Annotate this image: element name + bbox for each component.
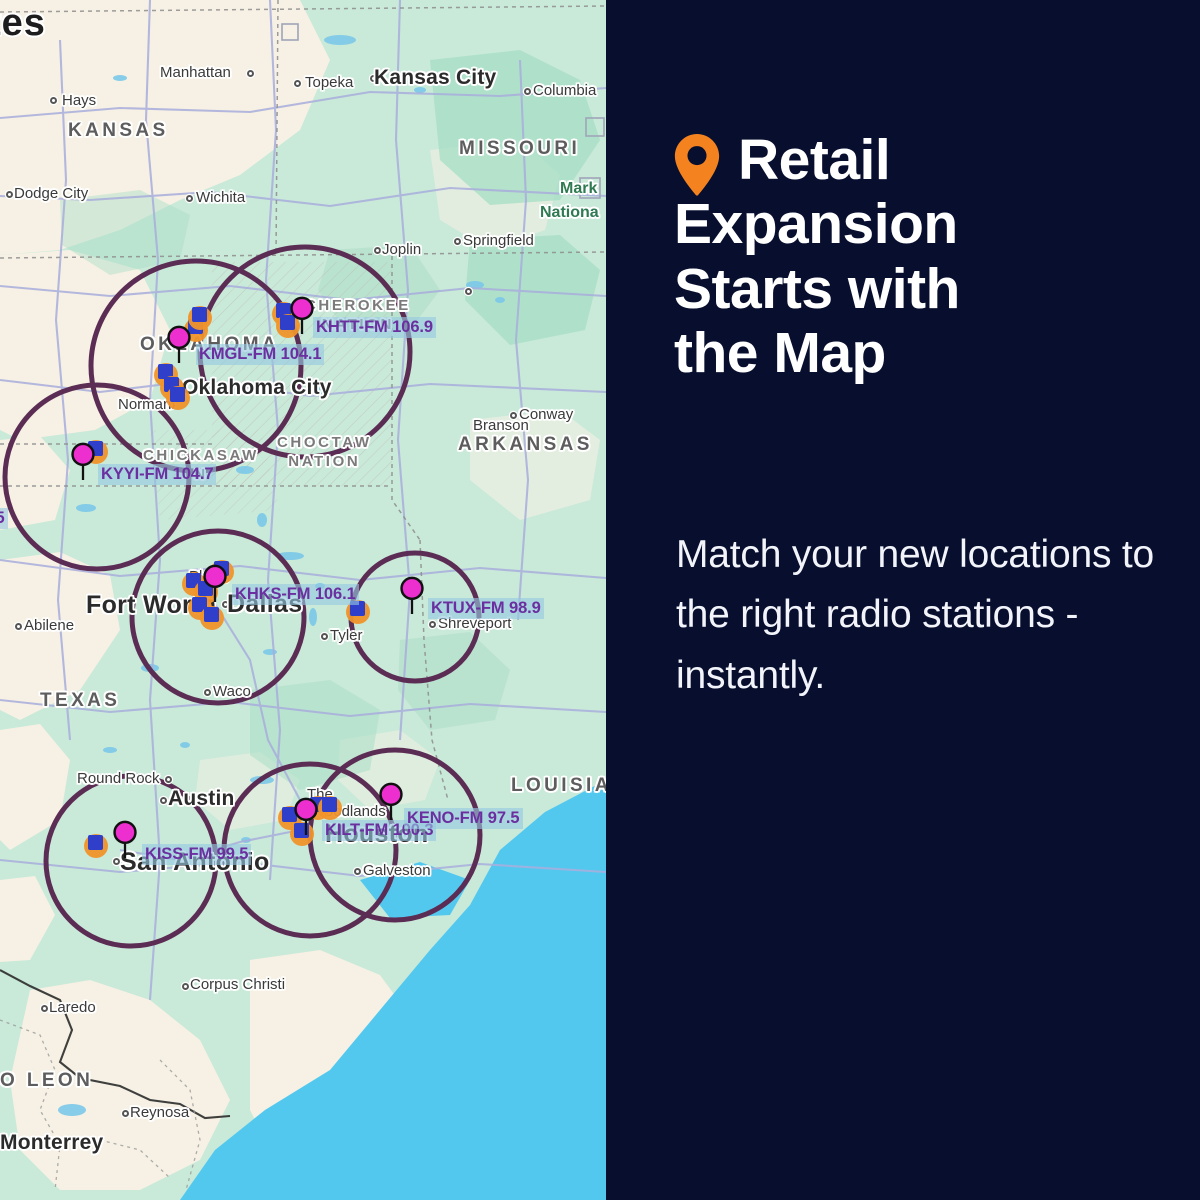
subheading-text: Match your new locations to the right ra… xyxy=(676,525,1166,706)
coverage-circle xyxy=(91,261,301,471)
headline-line-3: Starts with xyxy=(674,257,1104,321)
city-dot-icon xyxy=(113,858,120,865)
city-dot-icon xyxy=(15,623,22,630)
city-dot-icon xyxy=(182,983,189,990)
city-dot-icon xyxy=(41,1005,48,1012)
radio-station-pin-icon[interactable] xyxy=(293,797,319,835)
city-dot-icon xyxy=(429,621,436,628)
store-cluster-marker[interactable] xyxy=(200,606,224,630)
city-dot-icon xyxy=(465,288,472,295)
station-label-clipped: .5 xyxy=(0,508,8,529)
city-dot-icon xyxy=(374,247,381,254)
poster-canvas: KANSASMISSOURIOKLAHOMAARKANSASTEXASLOUIS… xyxy=(0,0,1200,1200)
headline-line-4: the Map xyxy=(674,321,1104,385)
city-dot-icon xyxy=(247,70,254,77)
city-dot-icon xyxy=(165,776,172,783)
city-dot-icon xyxy=(294,80,301,87)
radio-station-pin-icon[interactable] xyxy=(289,296,315,334)
city-dot-icon xyxy=(6,191,13,198)
radio-station-pin-icon[interactable] xyxy=(112,820,138,858)
radio-station-label: KENO-FM 97.5 xyxy=(404,808,523,829)
radio-station-label: KTUX-FM 98.9 xyxy=(428,598,544,619)
radio-station-label: KISS-FM 99.5 xyxy=(142,844,251,865)
radio-station-pin-icon[interactable] xyxy=(70,442,96,480)
cluster-square-icon xyxy=(192,307,207,322)
store-cluster-marker[interactable] xyxy=(84,834,108,858)
radio-station-pin-icon[interactable] xyxy=(202,564,228,602)
location-pin-icon xyxy=(674,134,720,196)
city-dot-icon xyxy=(454,238,461,245)
page-title: Retail Expansion Starts with the Map xyxy=(674,128,1104,386)
cluster-square-icon xyxy=(88,835,103,850)
city-dot-icon xyxy=(50,97,57,104)
city-dot-icon xyxy=(160,797,167,804)
cluster-square-icon xyxy=(322,797,337,812)
city-dot-icon xyxy=(321,633,328,640)
radio-station-pin-icon[interactable] xyxy=(378,782,404,820)
city-dot-icon xyxy=(204,689,211,696)
store-cluster-marker[interactable] xyxy=(166,386,190,410)
headline-line-2: Expansion xyxy=(674,192,1104,256)
headline-line-1: Retail xyxy=(738,128,1104,192)
store-cluster-marker[interactable] xyxy=(318,796,342,820)
city-dot-icon xyxy=(186,195,193,202)
radio-station-label: KYYI-FM 104.7 xyxy=(98,464,216,485)
radio-station-label: KHKS-FM 106.1 xyxy=(232,584,359,605)
city-dot-icon xyxy=(122,1110,129,1117)
radio-station-pin-icon[interactable] xyxy=(166,325,192,363)
headline-block: Retail Expansion Starts with the Map xyxy=(674,128,1104,386)
radio-station-label: KMGL-FM 104.1 xyxy=(196,344,324,365)
content-panel: Retail Expansion Starts with the Map Mat… xyxy=(606,0,1200,1200)
city-dot-icon xyxy=(510,412,517,419)
radio-station-pin-icon[interactable] xyxy=(399,576,425,614)
radio-station-label: KHTT-FM 106.9 xyxy=(313,317,436,338)
city-dot-icon xyxy=(524,88,531,95)
city-dot-icon xyxy=(181,601,188,608)
city-dot-icon xyxy=(354,868,361,875)
map-panel[interactable]: KANSASMISSOURIOKLAHOMAARKANSASTEXASLOUIS… xyxy=(0,0,606,1200)
city-dot-icon xyxy=(370,75,377,82)
cluster-square-icon xyxy=(170,387,185,402)
cluster-square-icon xyxy=(204,607,219,622)
